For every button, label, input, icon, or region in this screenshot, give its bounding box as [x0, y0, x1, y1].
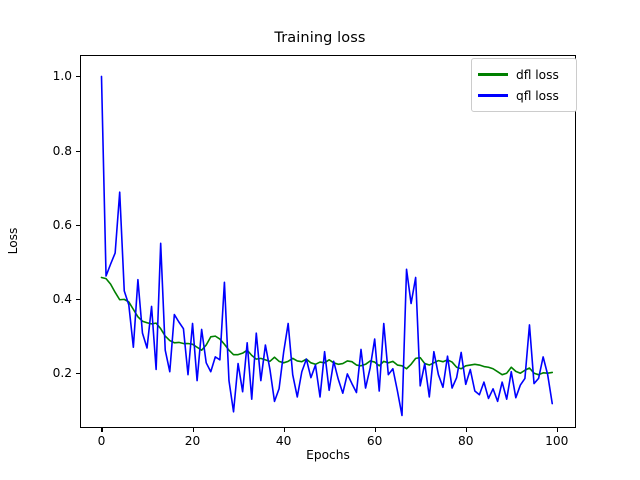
x-axis-label: Epochs — [306, 448, 350, 462]
y-tick-label: 0.4 — [53, 292, 72, 306]
x-tick-mark — [101, 428, 102, 432]
legend-label-dfl-loss: dfl loss — [516, 68, 559, 82]
line-qfl-loss — [101, 76, 552, 415]
y-tick-label: 1.0 — [53, 69, 72, 83]
legend-item-dfl-loss: dfl loss — [478, 64, 570, 85]
x-tick-label: 0 — [98, 434, 106, 448]
x-tick-mark — [284, 428, 285, 432]
line-dfl-loss — [101, 277, 552, 374]
x-tick-mark — [557, 428, 558, 432]
x-tick-label: 40 — [276, 434, 292, 448]
legend-item-qfl-loss: qfl loss — [478, 85, 570, 106]
y-axis-label: Loss — [6, 228, 20, 255]
y-tick-label: 0.2 — [53, 366, 72, 380]
legend-label-qfl-loss: qfl loss — [516, 89, 559, 103]
x-tick-label: 100 — [545, 434, 568, 448]
x-tick-label: 60 — [367, 434, 383, 448]
x-tick-label: 80 — [458, 434, 474, 448]
chart-title: Training loss — [0, 30, 640, 46]
matplotlib-figure: Training loss Loss Epochs 0.20.40.60.81.… — [0, 0, 640, 480]
y-tick-label: 0.8 — [53, 144, 72, 158]
x-tick-mark — [193, 428, 194, 432]
x-tick-mark — [466, 428, 467, 432]
x-tick-mark — [375, 428, 376, 432]
legend-swatch-qfl-loss — [478, 94, 508, 96]
x-tick-label: 20 — [185, 434, 201, 448]
chart-legend: dfl loss qfl loss — [471, 58, 577, 112]
legend-swatch-dfl-loss — [478, 73, 508, 75]
y-tick-label: 0.6 — [53, 218, 72, 232]
